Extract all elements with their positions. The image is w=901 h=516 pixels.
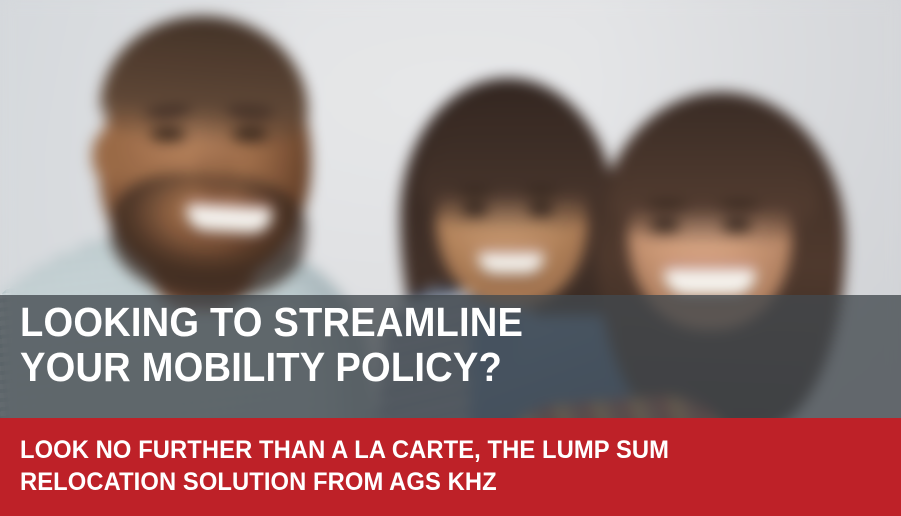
girl-eye-left [462, 204, 488, 216]
headline-line-2: YOUR MOBILITY POLICY? [20, 345, 671, 390]
marketing-banner: LOOKING TO STREAMLINE YOUR MOBILITY POLI… [0, 0, 901, 516]
headline-line-1: LOOKING TO STREAMLINE [20, 300, 671, 345]
subheadline-line-2: RELOCATION SOLUTION FROM AGS KHZ [20, 466, 837, 498]
subheadline-red-banner: LOOK NO FURTHER THAN A LA CARTE, THE LUM… [0, 418, 901, 516]
girl-eyebrow-right [524, 189, 558, 197]
girl-eye-right [528, 204, 554, 216]
girl-eyebrow-left [458, 189, 492, 197]
man-eye-right [232, 128, 268, 141]
headline: LOOKING TO STREAMLINE YOUR MOBILITY POLI… [20, 300, 671, 390]
woman-eye-right [722, 220, 752, 232]
girl-smile [478, 252, 544, 274]
subheadline: LOOK NO FURTHER THAN A LA CARTE, THE LUM… [20, 434, 837, 498]
man-ear [92, 130, 124, 182]
woman-eyebrow-right [718, 202, 760, 211]
subheadline-line-1: LOOK NO FURTHER THAN A LA CARTE, THE LUM… [20, 434, 837, 466]
woman-smile [664, 268, 756, 296]
woman-eye-left [650, 220, 680, 232]
man-eye-left [150, 128, 186, 141]
woman-eyebrow-left [646, 202, 688, 211]
